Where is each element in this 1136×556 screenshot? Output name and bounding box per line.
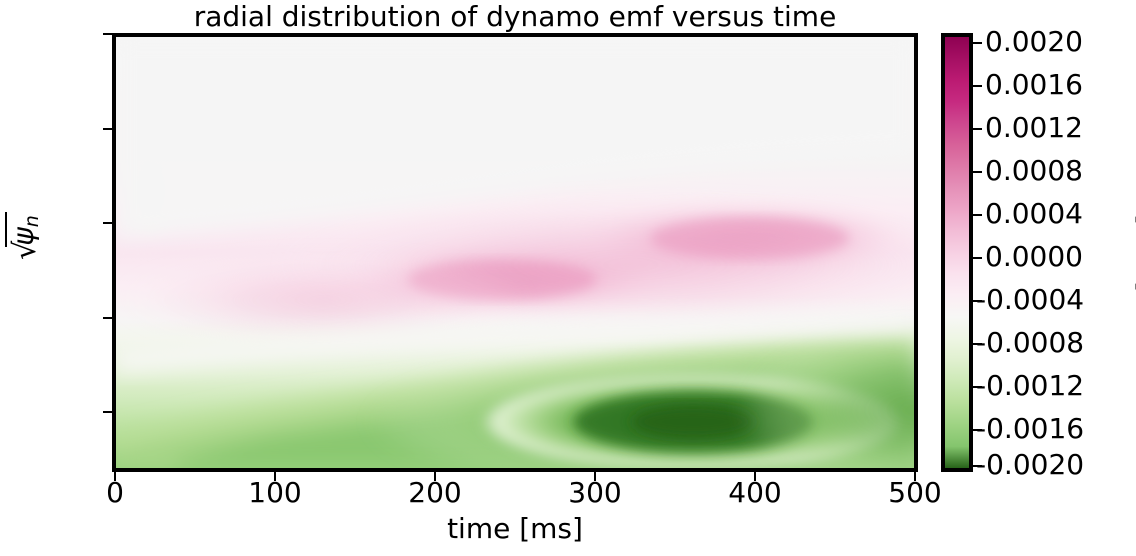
- cbtick-label-neg0.0016: -0.0016: [976, 415, 1084, 443]
- cbtick-mark-0.0012: [973, 128, 982, 130]
- cbtick-label-0.0016: 0.0016: [985, 71, 1083, 99]
- cbtick-mark-0.0000: [973, 257, 982, 259]
- colorbar-gradient: [945, 37, 969, 468]
- psi-subscript: n: [21, 215, 43, 227]
- cbtick-label-neg0.0008: -0.0008: [976, 329, 1084, 357]
- x-axis-label: time [ms]: [112, 512, 918, 545]
- cbtick-label-0.0012: 0.0012: [985, 114, 1083, 142]
- cbtick-label-0.0000: 0.0000: [985, 243, 1083, 271]
- plot-axes[interactable]: [112, 33, 918, 472]
- page-title: radial distribution of dynamo emf versus…: [112, 1, 918, 33]
- cbtick-label-0.0004: 0.0004: [985, 200, 1083, 228]
- cbtick-mark-0.0004: [973, 214, 982, 216]
- colorbar-label: ε∥ [V/m]: [1131, 150, 1136, 390]
- ytick-mark-0.2: [103, 317, 112, 319]
- y-axis-label: √ψn: [5, 177, 43, 297]
- colorbar-units: [V/m]: [1131, 214, 1136, 301]
- sqrt-symbol: √ψn: [5, 212, 43, 262]
- radicand: ψn: [5, 212, 43, 247]
- cbtick-mark-0.0016: [973, 85, 982, 87]
- colorbar[interactable]: [941, 33, 973, 472]
- xtick-label-400: 400: [728, 478, 781, 508]
- xtick-label-100: 100: [248, 478, 301, 508]
- cbtick-label-neg0.0012: -0.0012: [976, 372, 1084, 400]
- ytick-mark-0.5: [103, 33, 112, 35]
- ytick-mark-0.4: [103, 128, 112, 130]
- xtick-label-300: 300: [568, 478, 621, 508]
- xtick-label-500: 500: [888, 478, 941, 508]
- figure-canvas: radial distribution of dynamo emf versus…: [0, 0, 1136, 556]
- cbtick-mark-0.0020: [973, 42, 982, 44]
- cbtick-label-neg0.0004: -0.0004: [976, 286, 1084, 314]
- cbtick-label-0.0008: 0.0008: [985, 157, 1083, 185]
- xtick-label-200: 200: [408, 478, 461, 508]
- ytick-mark-0.3: [103, 222, 112, 224]
- cbtick-mark-0.0008: [973, 171, 982, 173]
- cbtick-label-neg0.0020: -0.0020: [976, 451, 1084, 479]
- cbtick-label-0.0020: 0.0020: [985, 28, 1083, 56]
- psi-glyph: ψ: [7, 227, 40, 245]
- contour-field: [116, 37, 914, 468]
- ytick-mark-0.1: [103, 411, 112, 413]
- epsilon-glyph: ε: [1131, 310, 1136, 325]
- xtick-label-0: 0: [106, 478, 124, 508]
